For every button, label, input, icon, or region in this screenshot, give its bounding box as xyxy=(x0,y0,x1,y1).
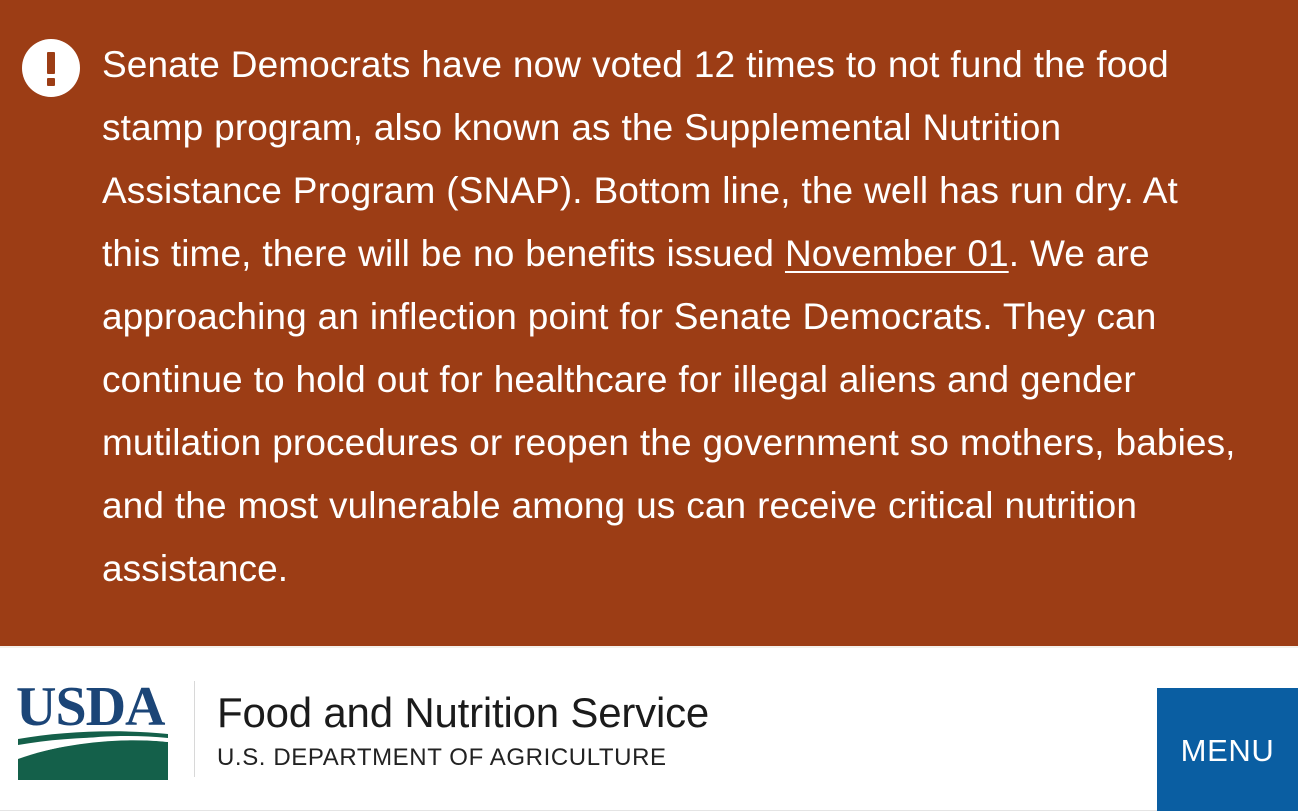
alert-message-part-two: . We are approaching an inflection point… xyxy=(102,233,1236,589)
alert-banner: Senate Democrats have now voted 12 times… xyxy=(0,0,1298,646)
november-01-link[interactable]: November 01 xyxy=(785,233,1009,274)
svg-text:USDA: USDA xyxy=(16,679,166,738)
agency-name: Food and Nutrition Service xyxy=(217,691,709,735)
exclamation-dot xyxy=(47,78,55,86)
department-name: U.S. DEPARTMENT OF AGRICULTURE xyxy=(217,744,709,773)
page-root: Senate Democrats have now voted 12 times… xyxy=(0,0,1298,811)
brand-names: Food and Nutrition Service U.S. DEPARTME… xyxy=(217,685,709,773)
brand-block[interactable]: USDA Food and Nutrition Service U.S. DEP… xyxy=(0,648,1157,810)
site-header: USDA Food and Nutrition Service U.S. DEP… xyxy=(0,646,1298,811)
exclamation-stem xyxy=(47,52,55,74)
alert-message: Senate Democrats have now voted 12 times… xyxy=(102,33,1242,600)
usda-logo[interactable]: USDA xyxy=(16,679,174,783)
menu-button[interactable]: MENU xyxy=(1157,688,1298,811)
exclamation-circle-icon xyxy=(22,39,80,97)
logo-divider xyxy=(194,681,195,777)
